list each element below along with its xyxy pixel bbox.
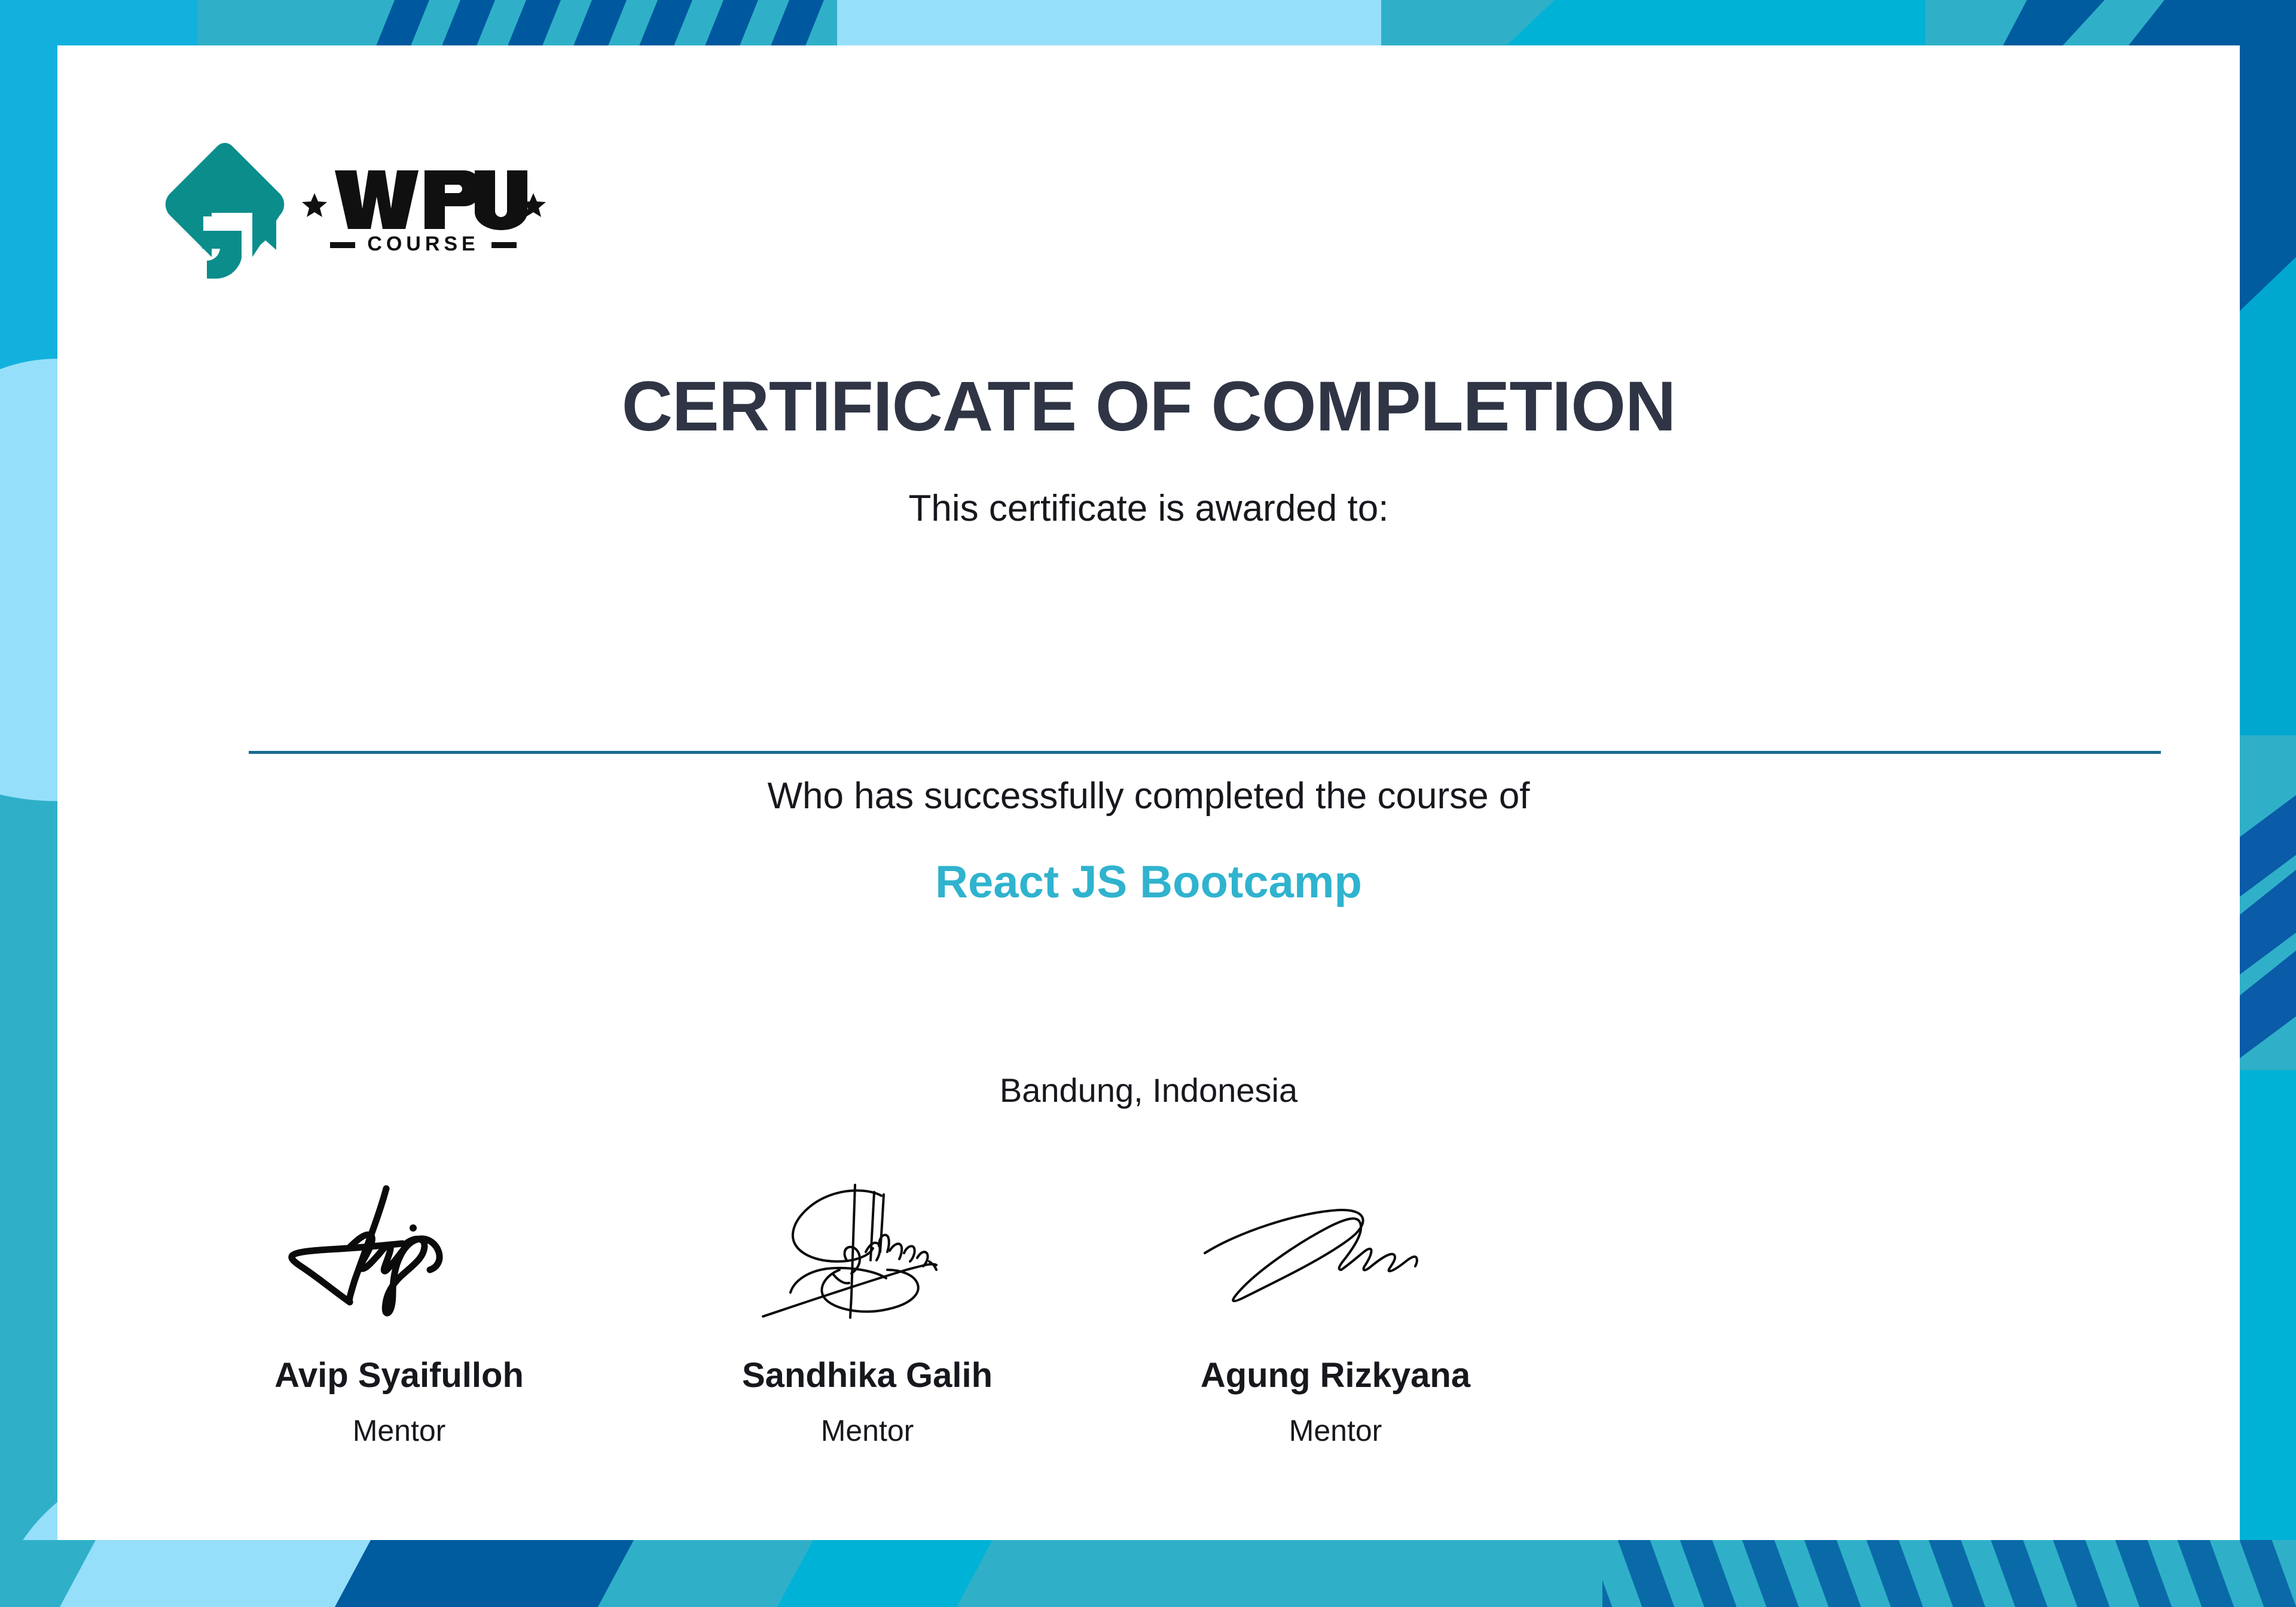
signature-role: Mentor — [353, 1416, 446, 1446]
certificate-page: COURSE CERTIFICATE OF COMPLETION This ce… — [0, 0, 2296, 1607]
page-title: CERTIFICATE OF COMPLETION — [57, 371, 2240, 442]
signature-block: Avip Syaifulloh Mentor — [165, 1181, 633, 1446]
star-icon — [302, 193, 327, 217]
signature-role: Mentor — [821, 1416, 914, 1446]
awarded-to-label: This certificate is awarded to: — [57, 490, 2240, 527]
wpu-wordmark-icon: COURSE — [301, 162, 546, 258]
top-border-band — [0, 0, 2296, 45]
signature-name: Sandhika Galih — [742, 1358, 993, 1393]
handwritten-signature-icon — [1168, 1181, 1503, 1319]
divider-line — [249, 751, 2161, 754]
certificate-card: COURSE CERTIFICATE OF COMPLETION This ce… — [57, 45, 2240, 1540]
svg-text:COURSE: COURSE — [367, 233, 479, 255]
course-intro-text: Who has successfully completed the cours… — [57, 778, 2240, 815]
wpu-graduation-cap-icon — [165, 141, 285, 279]
signatures-row: Avip Syaifulloh Mentor — [165, 1181, 1570, 1446]
bottom-border-band — [0, 1540, 2296, 1607]
signature-name: Avip Syaifulloh — [274, 1358, 524, 1393]
recipient-name — [57, 619, 2240, 715]
wpu-course-logo: COURSE — [165, 141, 546, 279]
signature-role: Mentor — [1289, 1416, 1382, 1446]
signature-block: Agung Rizkyana Mentor — [1101, 1181, 1570, 1446]
signature-block: Sandhika Galih Mentor — [633, 1181, 1101, 1446]
handwritten-signature-icon — [700, 1181, 1035, 1319]
handwritten-signature-icon — [232, 1181, 567, 1319]
right-border-band — [2240, 0, 2296, 1607]
course-name: React JS Bootcamp — [57, 860, 2240, 905]
signature-name: Agung Rizkyana — [1201, 1358, 1470, 1393]
location-text: Bandung, Indonesia — [57, 1074, 2240, 1107]
